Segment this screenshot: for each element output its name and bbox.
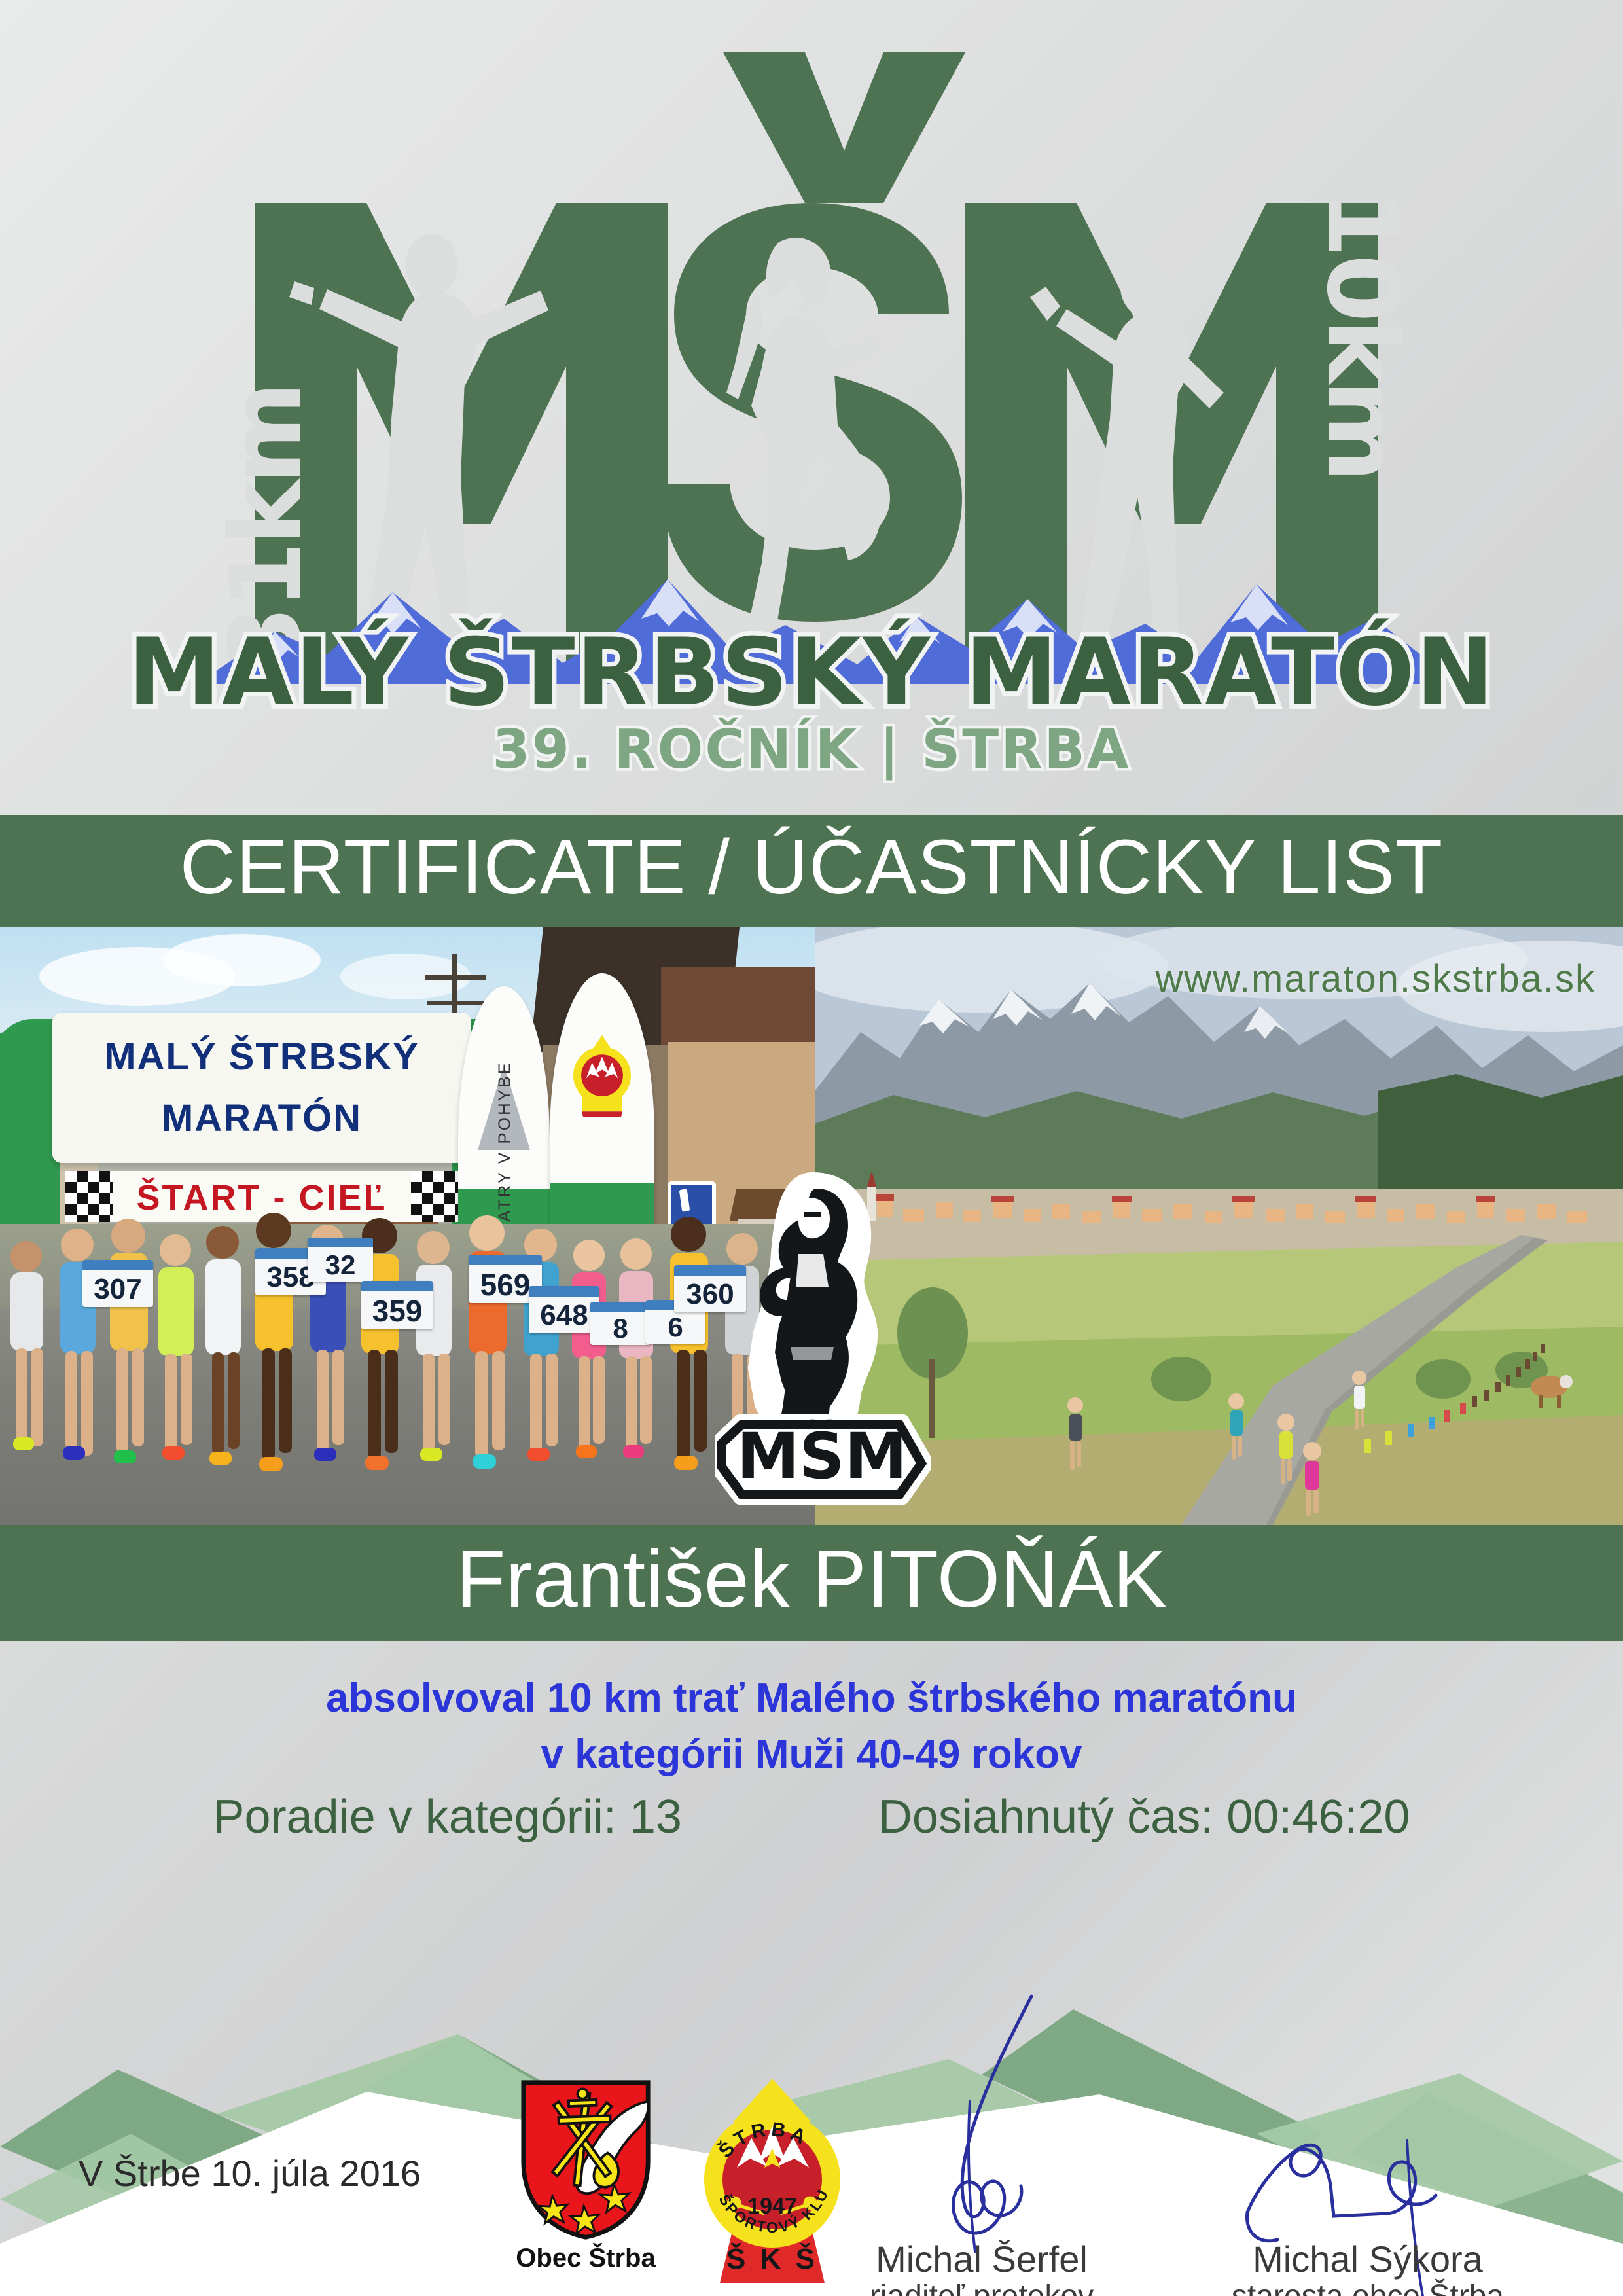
arch-line-2: MARATÓN xyxy=(52,1096,471,1140)
distance-right-text: 10km xyxy=(1305,190,1414,478)
category-rank: Poradie v kategórii: 13 xyxy=(213,1790,682,1844)
participant-name: František PITOŇÁK xyxy=(0,1533,1623,1626)
club-year: 1947 xyxy=(747,2194,797,2219)
event-subtitle: 39. ROČNÍK | ŠTRBA xyxy=(0,719,1623,781)
arch-line-1: MALÝ ŠTRBSKÝ xyxy=(52,1035,471,1079)
obec-strba-coat-of-arms: Obec Štrba xyxy=(510,2079,661,2275)
club-bottom-text: Š K Š xyxy=(726,2242,818,2275)
description-line-1: absolvoval 10 km trať Malého štrbského m… xyxy=(0,1670,1623,1727)
sks-club-logo: ŠTRBA ŠPORTOVÝ KLUB 1947 Š K Š xyxy=(694,2075,851,2291)
participant-description: absolvoval 10 km trať Malého štrbského m… xyxy=(0,1670,1623,1782)
bib-number: 8 xyxy=(590,1302,651,1345)
certificate-title-bar: CERTIFICATE / ÚČASTNÍCKY LIST xyxy=(0,815,1623,927)
signature-name: Michal Sýkora xyxy=(1198,2240,1538,2279)
inflatable-arch-banner: MALÝ ŠTRBSKÝ MARATÓN xyxy=(52,1013,471,1163)
footer: V Štrbe 10. júla 2016 xyxy=(0,2075,1623,2296)
description-line-2: v kategórii Muži 40-49 rokov xyxy=(0,1727,1623,1783)
runners-crowd xyxy=(0,1185,815,1525)
signature-block-sykora: Michal Sýkora starosta obce Štrba xyxy=(1198,2240,1538,2296)
msm-runner-sticker: MŠM xyxy=(715,1172,931,1505)
results-row: Poradie v kategórii: 13 Dosiahnutý čas: … xyxy=(0,1790,1623,1844)
signature-name: Michal Šerfel xyxy=(844,2240,1119,2279)
certificate-page: 31km 10km xyxy=(0,0,1623,2296)
website-url: www.maraton.skstrba.sk xyxy=(1155,957,1596,1001)
bib-number: 359 xyxy=(361,1281,433,1329)
event-title: MALÝ ŠTRBSKÝ MARATÓN xyxy=(0,619,1623,726)
participant-name-bar: František PITOŇÁK xyxy=(0,1525,1623,1641)
race-start-photo: MALÝ ŠTRBSKÝ MARATÓN ŠTART - CIEĽ TATRY … xyxy=(0,927,815,1525)
finish-time: Dosiahnutý čas: 00:46:20 xyxy=(878,1790,1410,1844)
issue-date: V Štrbe 10. júla 2016 xyxy=(79,2152,421,2195)
caron-icon xyxy=(723,52,965,203)
obec-label: Obec Štrba xyxy=(510,2244,661,2273)
bib-number: 307 xyxy=(82,1260,153,1307)
signature-role: riaditeľ pretekov xyxy=(844,2279,1119,2296)
landscape-graphic xyxy=(815,927,1623,1525)
tatra-landscape-photo: www.maraton.skstrba.sk xyxy=(815,927,1623,1525)
signature-role: starosta obce Štrba xyxy=(1198,2279,1538,2296)
bib-number: 648 xyxy=(529,1286,599,1333)
bib-number: 32 xyxy=(308,1238,373,1282)
signature-block-serfel: Michal Šerfel riaditeľ pretekov xyxy=(844,2240,1119,2296)
svg-text:10km: 10km xyxy=(1305,190,1414,478)
certificate-title: CERTIFICATE / ÚČASTNÍCKY LIST xyxy=(0,823,1623,912)
hero-logo-area: 31km 10km xyxy=(0,0,1623,815)
sticker-label: MŠM xyxy=(737,1419,907,1493)
